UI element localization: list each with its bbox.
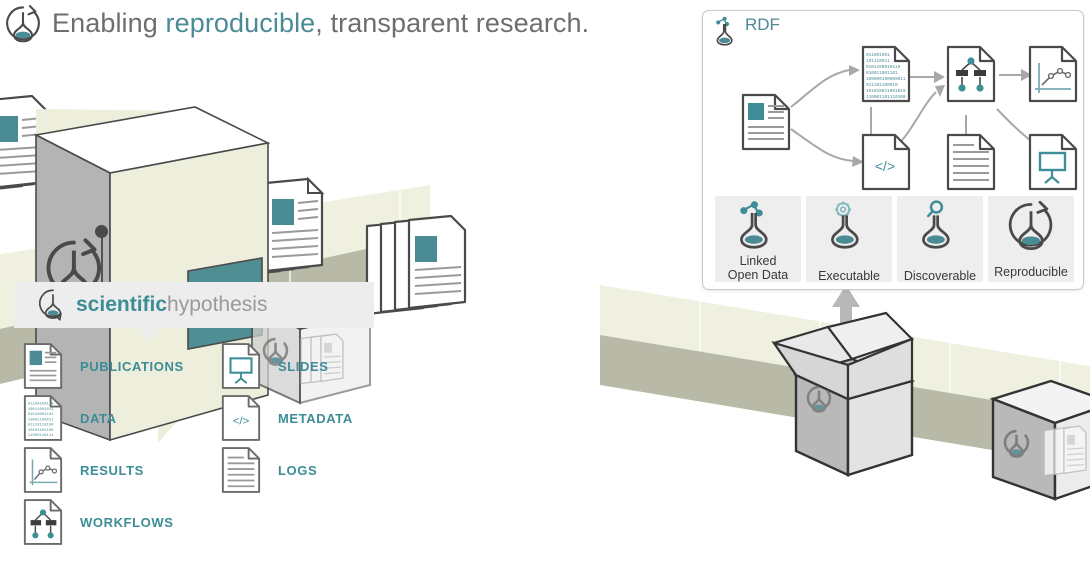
headline-after: , transparent research.	[315, 8, 589, 38]
feature-caption-line1: Reproducible	[994, 265, 1068, 279]
doc-thumb	[0, 116, 18, 142]
svg-text:01010001101: 01010001101	[28, 413, 54, 417]
feature-caption: Discoverable	[904, 269, 976, 283]
svg-text:100000100000011: 100000100000011	[866, 77, 906, 82]
binary-data-document-icon: 0110010011010011001011 01010001101100011…	[22, 393, 64, 443]
rdf-node-source	[743, 95, 789, 149]
svg-text:01100100110: 01100100110	[28, 403, 54, 407]
list-item-label: WORKFLOWS	[80, 515, 174, 530]
callout-normal-text: hypothesis	[167, 293, 267, 316]
feature-caption-line2: Open Data	[728, 268, 788, 282]
rdf-node-binary: 011001001101110011 010110001011001001100…	[863, 47, 909, 101]
callout-anchor-dot	[95, 225, 108, 238]
code-glyph: </>	[233, 416, 250, 428]
list-item-label: LOGS	[278, 463, 317, 478]
svg-text:10001100011: 10001100011	[28, 418, 54, 422]
doc-thumb	[415, 236, 437, 262]
rdf-panel: RDF	[702, 10, 1084, 290]
list-item-label: DATA	[80, 411, 117, 426]
rdf-panel-title: RDF	[745, 15, 780, 35]
feature-caption: Executable	[818, 269, 880, 283]
svg-text:010011001101: 010011001101	[866, 71, 898, 76]
code-metadata-document-icon: </>	[220, 393, 262, 443]
svg-text:101110011: 101110011	[866, 59, 890, 64]
feature-cell-linked-open-data[interactable]: Linked Open Data	[715, 196, 801, 282]
rdf-node-slides	[1030, 135, 1076, 189]
svg-text:101010011001010: 101010011001010	[866, 89, 906, 94]
svg-text:011101100010: 011101100010	[866, 83, 898, 88]
rdf-flow-diagram: 011001001101110011 010110001011001001100…	[731, 37, 1076, 192]
reproducible-flask-logo-icon	[3, 4, 43, 44]
rdf-code-glyph: </>	[875, 158, 895, 174]
workflow-graph-document-icon	[22, 497, 64, 547]
magnifier-icon	[928, 202, 942, 216]
list-item-label: METADATA	[278, 411, 353, 426]
sealed-box-documents	[1044, 426, 1086, 476]
feature-caption: Linked Open Data	[728, 254, 788, 282]
feature-caption-line1: Linked	[728, 254, 788, 268]
svg-text:11000110111: 11000110111	[28, 434, 54, 438]
rdf-node-results	[1030, 47, 1076, 101]
document-stack	[367, 216, 465, 314]
gear-flask-icon	[826, 200, 872, 252]
gear-icon	[835, 201, 851, 217]
feature-caption: Reproducible	[994, 265, 1068, 279]
list-item[interactable]: 0110010011010011001011 01010001101100011…	[22, 393, 117, 443]
svg-text:10011001011: 10011001011	[28, 408, 54, 412]
doc-thumb	[272, 199, 294, 225]
svg-text:011001001: 011001001	[866, 53, 890, 58]
arrow-source-to-binary	[791, 70, 849, 107]
list-item-label: SLIDES	[278, 359, 329, 374]
feature-caption-line1: Discoverable	[904, 269, 976, 283]
list-item[interactable]: </> METADATA	[220, 393, 353, 443]
cycle-flask-icon	[1006, 200, 1056, 252]
rdf-node-logs	[948, 135, 994, 189]
callout-tail	[138, 328, 160, 342]
callout-banner: scientifichypothesis	[14, 282, 374, 328]
headline-before: Enabling	[52, 8, 166, 38]
svg-text:110001101110100: 110001101110100	[866, 95, 906, 100]
callout-bold-text: scientific	[76, 293, 167, 316]
headline-accent: reproducible	[166, 8, 316, 38]
list-item[interactable]: LOGS	[220, 445, 317, 495]
callout-label: scientifichypothesis	[76, 293, 267, 317]
list-item[interactable]: RESULTS	[22, 445, 144, 495]
feature-caption-line1: Executable	[818, 269, 880, 283]
list-item[interactable]: WORKFLOWS	[22, 497, 174, 547]
rdf-node-code: </>	[863, 135, 909, 189]
arrow-source-to-code	[791, 129, 853, 161]
results-chart-document-icon	[22, 445, 64, 495]
linked-data-flask-icon	[735, 200, 781, 252]
list-item[interactable]: SLIDES	[220, 341, 329, 391]
publication-document-icon	[22, 341, 64, 391]
list-item[interactable]: PUBLICATIONS	[22, 341, 184, 391]
svg-text:0101100010110: 0101100010110	[866, 65, 901, 70]
hypothesis-flask-speech-icon	[36, 288, 70, 322]
feature-cell-executable[interactable]: Executable	[806, 196, 892, 282]
page-title: Enabling reproducible, transparent resea…	[52, 8, 589, 39]
svg-text:10101101100: 10101101100	[28, 429, 54, 433]
logs-lines-document-icon	[220, 445, 262, 495]
list-item-label: PUBLICATIONS	[80, 359, 184, 374]
feature-cell-reproducible[interactable]: Reproducible	[988, 196, 1074, 282]
svg-text:01110110100: 01110110100	[28, 424, 54, 428]
sealed-box	[993, 381, 1090, 499]
rdf-node-workflow	[948, 47, 994, 101]
callout-leader-line	[101, 231, 103, 283]
magnifier-flask-icon	[917, 200, 963, 252]
feature-cell-discoverable[interactable]: Discoverable	[897, 196, 983, 282]
list-item-label: RESULTS	[80, 463, 144, 478]
slides-presentation-document-icon	[220, 341, 262, 391]
